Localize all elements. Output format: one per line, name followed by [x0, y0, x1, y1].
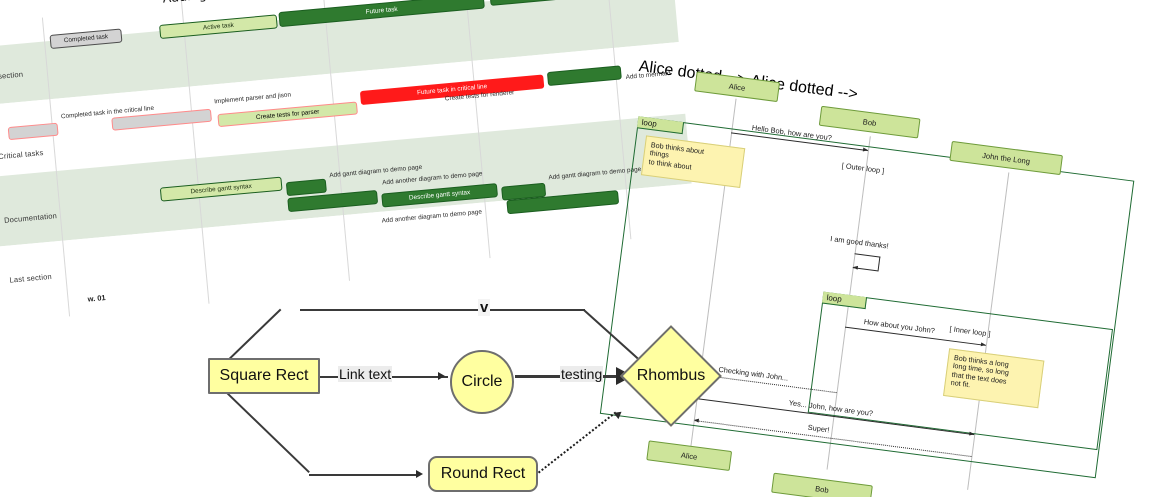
flow-edge-square-to-round-b — [309, 474, 419, 476]
flow-node-square-rect[interactable]: Square Rect — [208, 358, 320, 394]
flow-node-circle[interactable]: Circle — [450, 350, 514, 414]
flow-edge-label-link-text: Link text — [338, 366, 392, 382]
flow-arrowhead-circle — [438, 372, 445, 380]
message-arrowhead-self — [853, 265, 858, 270]
flow-edge-square-to-rhombus-top-b — [300, 309, 585, 311]
flow-edge-square-to-rhombus-top-a — [222, 309, 281, 366]
flow-edge-label-v: v — [478, 299, 490, 316]
flow-arrowhead-round — [416, 470, 423, 478]
flow-node-rhombus-label: Rhombus — [635, 340, 707, 412]
flow-arrowhead-rhombus-dotted — [614, 409, 624, 420]
flow-edge-label-testing: testing — [560, 366, 603, 382]
participant-bob-top[interactable]: Bob — [819, 106, 921, 139]
gantt-bar-label: Completed task — [51, 32, 121, 45]
message-arrowhead — [863, 147, 868, 152]
flow-node-round-rect[interactable]: Round Rect — [428, 456, 538, 492]
flow-edge-square-to-round-a — [222, 388, 309, 473]
gantt-axis-tick: w. 01 — [87, 293, 106, 304]
flow-edge-round-to-rhombus — [532, 412, 616, 478]
participant-alice-top[interactable]: Alice — [694, 71, 780, 102]
participant-bob-bottom[interactable]: Bob — [771, 473, 873, 497]
flow-node-rhombus[interactable]: Rhombus — [635, 340, 707, 412]
message-arrowhead — [981, 342, 986, 347]
message-arrowhead — [969, 431, 974, 436]
screenshot-canvas: Adding GANTT diagram functionality to me… — [0, 0, 1170, 497]
flowchart: v Link text testing Square Rect Circle R… — [188, 288, 748, 497]
